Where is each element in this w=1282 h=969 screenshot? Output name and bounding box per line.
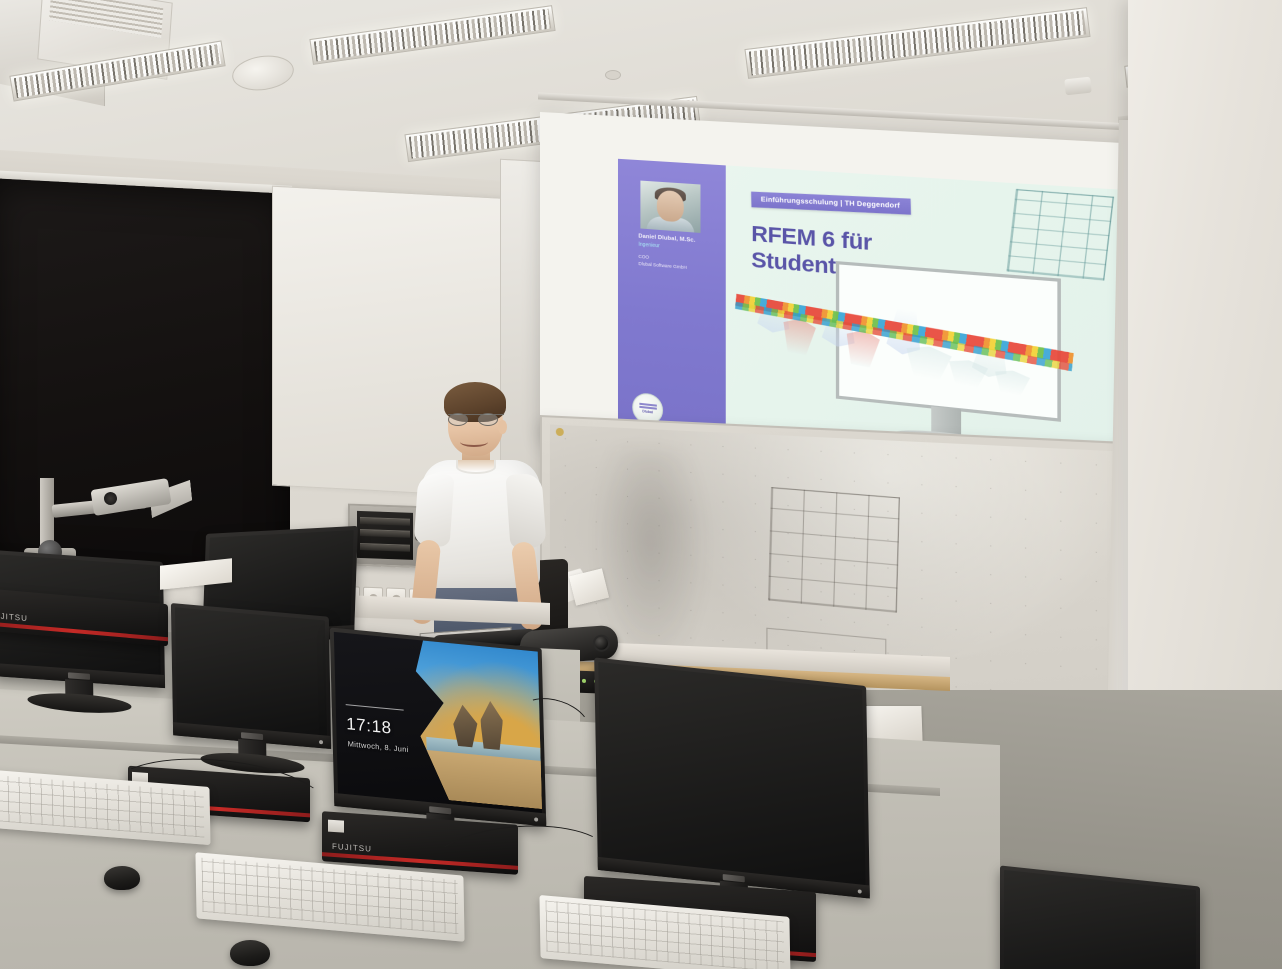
monitor-lockscreen[interactable]: 17:18 Mittwoch, 8. Juni <box>330 628 547 827</box>
slide-ribbon: Einführungsschulung | TH Deggendorf <box>751 192 910 215</box>
whiteboard-grid-sketch <box>768 487 900 613</box>
logo-text: Dlubal <box>642 409 653 414</box>
windows-lock-screen[interactable]: 17:18 Mittwoch, 8. Juni <box>334 632 542 813</box>
lockscreen-divider <box>346 704 404 711</box>
presenter-sleeve-left <box>414 473 455 547</box>
wireframe-grid-graphic <box>1007 189 1114 281</box>
lockscreen-time: 17:18 <box>346 714 392 738</box>
pc-brand-label: FUJITSU <box>332 842 372 854</box>
projector-mount <box>1064 77 1092 96</box>
slide-sidebar: Daniel Dlubal, M.Sc. Ingenieur COODlubal… <box>618 159 726 445</box>
vent-grill <box>49 0 163 38</box>
pc-brand-label: FUJITSU <box>0 611 28 623</box>
classroom-photo: Daniel Dlubal, M.Sc. Ingenieur COODlubal… <box>0 0 1282 969</box>
presenter-smile <box>460 437 488 447</box>
lockscreen-date: Mittwoch, 8. Juni <box>348 740 409 755</box>
monitor[interactable] <box>594 657 870 898</box>
mouse[interactable] <box>230 940 270 966</box>
speaker-company: COODlubal Software GmbH <box>638 254 723 275</box>
presenter-collar <box>456 460 496 474</box>
speaker-photo <box>640 181 700 233</box>
presenter-sleeve-right <box>505 473 546 549</box>
camera-lens-icon <box>592 634 610 652</box>
lockscreen-wallpaper <box>391 633 542 809</box>
monitor <box>171 603 331 749</box>
mouse[interactable] <box>104 866 140 890</box>
glasses-icon <box>448 413 504 426</box>
asset-tag <box>328 820 344 833</box>
smoke-detector-icon <box>605 70 621 80</box>
